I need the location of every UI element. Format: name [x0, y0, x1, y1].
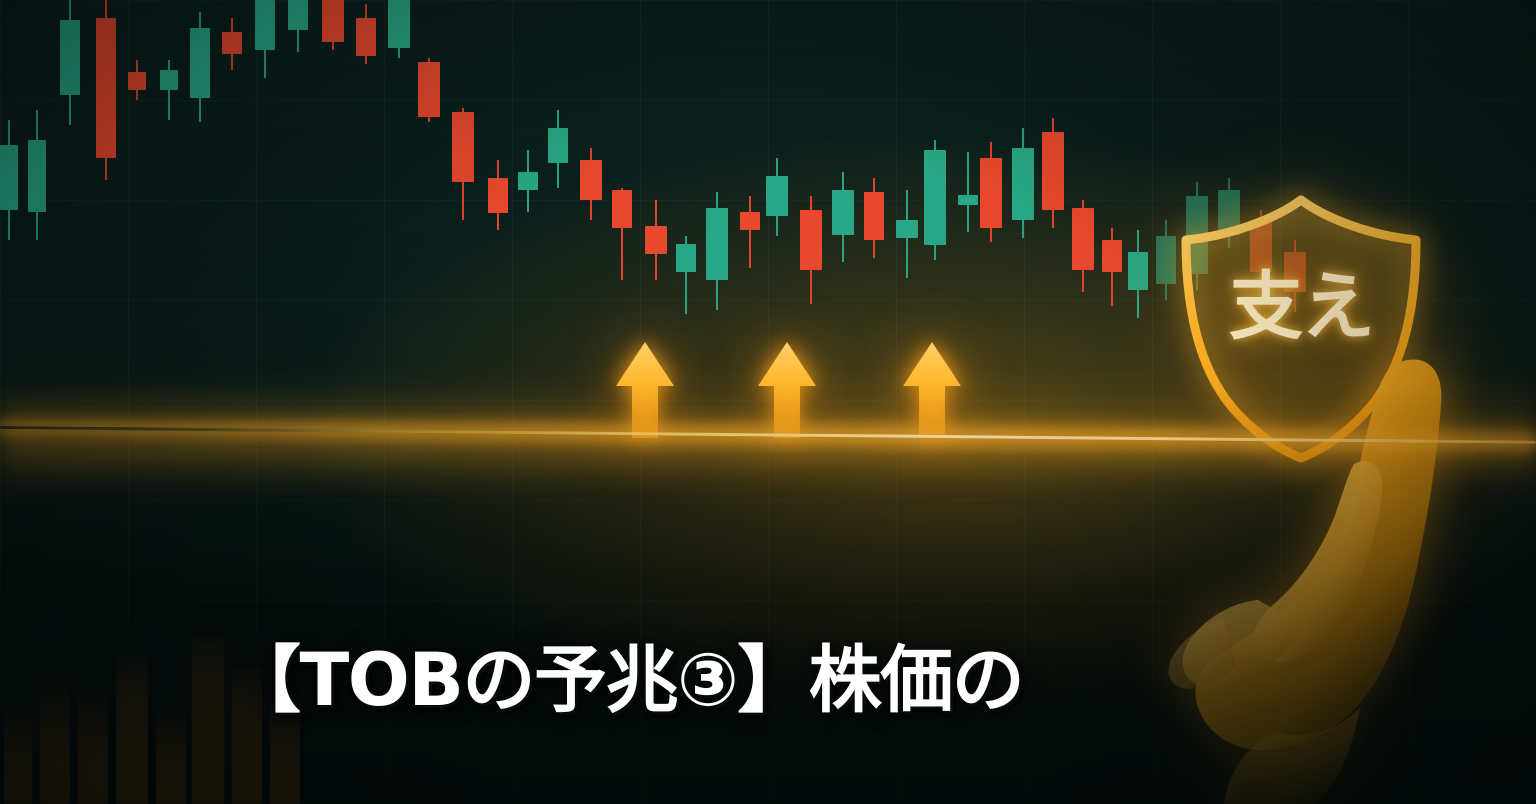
candlestick	[128, 0, 146, 460]
candlestick	[190, 0, 210, 460]
candlestick	[28, 0, 46, 460]
candlestick	[60, 0, 80, 460]
candlestick	[706, 0, 728, 460]
candlestick	[418, 0, 440, 460]
shield-label: 支え	[1162, 270, 1440, 344]
candlestick	[1042, 0, 1064, 460]
page-title: 【TOBの予兆③】株価の 「下値が固い」。売りが出ても、 必ず買い支えが入る	[228, 492, 1438, 804]
candlestick	[488, 0, 508, 460]
candlestick	[222, 0, 242, 460]
candlestick	[288, 0, 308, 460]
candlestick	[1012, 0, 1034, 460]
candlestick	[1072, 0, 1094, 460]
candlestick	[832, 0, 854, 460]
candlestick	[548, 0, 568, 460]
candlestick	[864, 0, 884, 460]
candlestick	[160, 0, 178, 460]
candlestick	[452, 0, 474, 460]
candlestick	[980, 0, 1002, 460]
candlestick	[96, 0, 116, 460]
candlestick	[388, 0, 410, 460]
candlestick	[322, 0, 344, 460]
candlestick	[0, 0, 18, 460]
candlestick	[518, 0, 538, 460]
thumbnail-canvas: 支え	[0, 0, 1536, 804]
candlestick	[255, 0, 275, 460]
candlestick	[676, 0, 696, 460]
title-line-1: 【TOBの予兆③】株価の	[228, 643, 1438, 719]
candlestick	[580, 0, 602, 460]
candlestick	[356, 0, 376, 460]
